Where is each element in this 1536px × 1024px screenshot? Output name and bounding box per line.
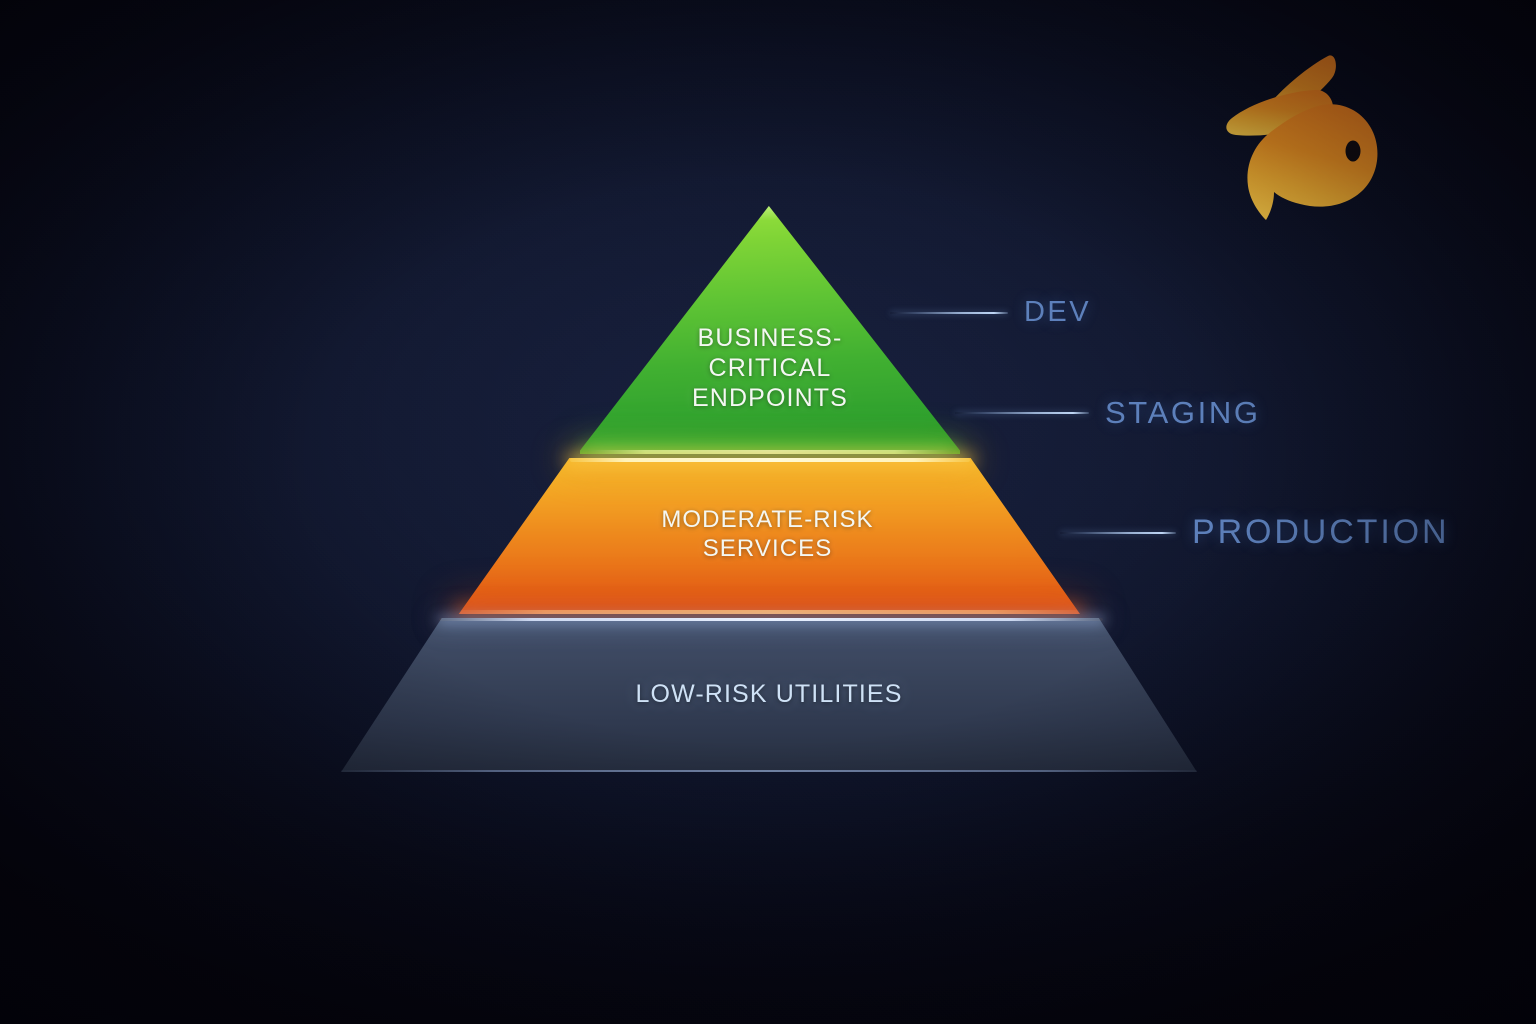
pyramid-tier-bottom-shape	[335, 618, 1203, 772]
callout-dev[interactable]: DEV	[890, 296, 1091, 329]
callout-staging-label: STAGING	[1105, 395, 1261, 431]
pyramid-tier-bottom[interactable]: LOW-RISK UTILITIES	[335, 618, 1203, 772]
callout-dev-label: DEV	[1024, 296, 1091, 329]
pyramid-tier-middle-shape	[455, 458, 1080, 614]
pyramid-tier-top-base-glow	[587, 450, 953, 454]
pyramid-tier-bottom-top-glow	[439, 618, 1103, 621]
pyramid-tier-bottom-base-edge	[341, 770, 1197, 772]
callout-staging-leader-line	[955, 412, 1089, 414]
diagram-canvas: BUSINESS- CRITICAL ENDPOINTS MODERATE-RI…	[0, 0, 1536, 1024]
pyramid-tier-middle-top-glow	[570, 458, 970, 462]
callout-production[interactable]: PRODUCTION	[1060, 513, 1449, 552]
callout-dev-leader-line	[890, 312, 1008, 314]
pyramid-tier-top[interactable]: BUSINESS- CRITICAL ENDPOINTS	[580, 206, 960, 454]
callout-production-label: PRODUCTION	[1192, 513, 1449, 552]
pyramid-tier-middle[interactable]: MODERATE-RISK SERVICES	[455, 458, 1080, 614]
rabbit-logo[interactable]	[1222, 34, 1390, 224]
callout-production-leader-line	[1060, 532, 1176, 534]
callout-staging[interactable]: STAGING	[955, 395, 1261, 431]
pyramid-tier-middle-base-glow	[459, 610, 1079, 614]
pyramid-tier-top-shape	[580, 206, 960, 454]
